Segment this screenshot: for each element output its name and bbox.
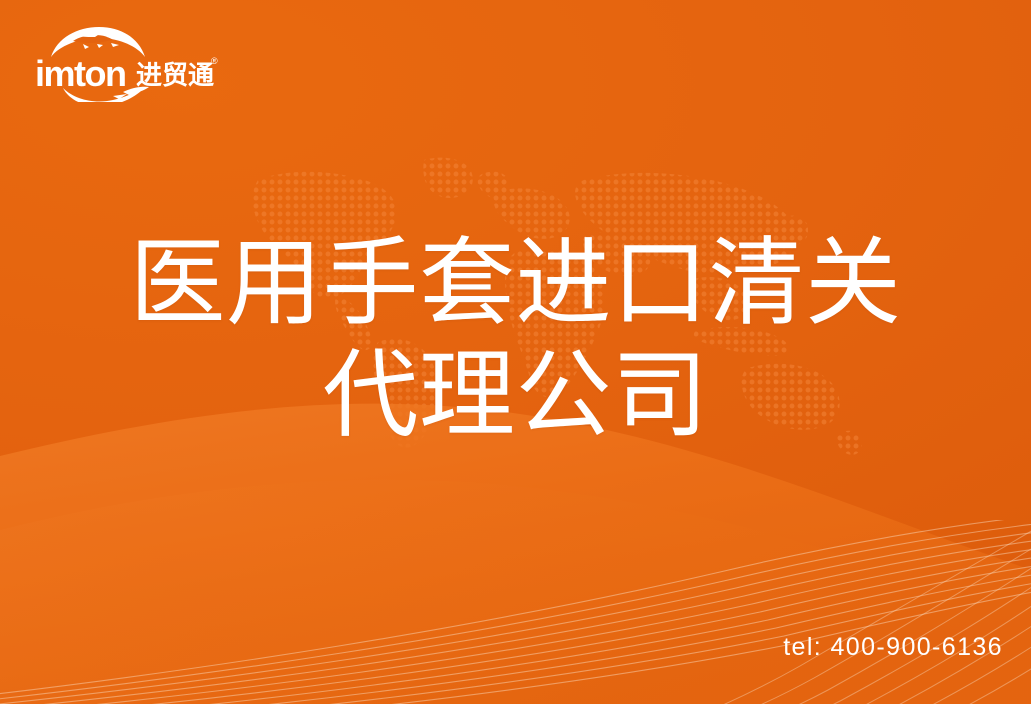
poster-canvas: imton 进贸通 ® 医用手套进口清关 代理公司 tel: 400-900-6… (0, 0, 1031, 704)
page-title: 医用手套进口清关 代理公司 (0, 228, 1031, 453)
headline-line-1: 医用手套进口清关 (0, 228, 1031, 340)
logo-wordmark: imton (35, 53, 125, 94)
logo[interactable]: imton 进贸通 ® (33, 24, 223, 102)
logo-chinese-name: 进贸通 (136, 60, 214, 90)
thin-line-fan (0, 520, 1031, 704)
logo-trademark-symbol: ® (211, 56, 218, 66)
headline-line-2: 代理公司 (0, 340, 1031, 452)
contact-telephone: tel: 400-900-6136 (783, 633, 1003, 662)
